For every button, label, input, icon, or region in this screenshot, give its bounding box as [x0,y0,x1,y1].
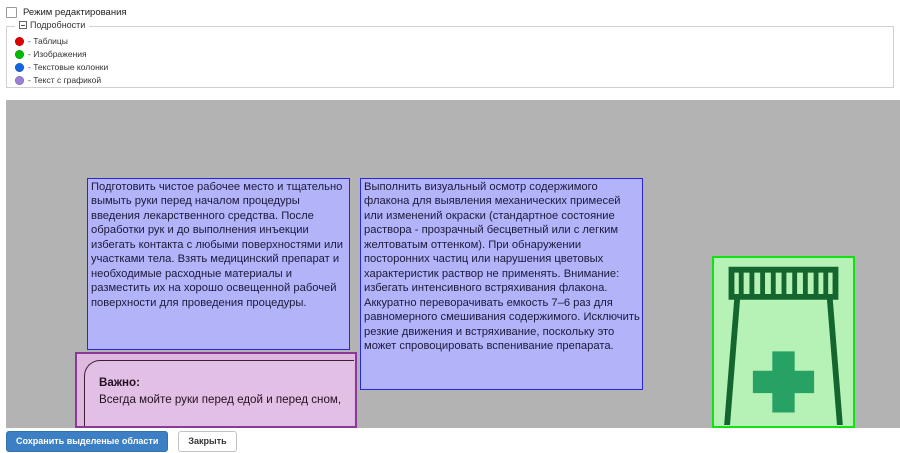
legend-item-images: - Изображения [15,48,108,60]
legend-item-tables: - Таблицы [15,35,108,47]
legend-label-text-columns: - Текстовые колонки [28,62,108,72]
region-text-column-right-content: Выполнить визуальный осмотр содержимого … [361,179,642,353]
legend-dot-red [15,37,24,46]
edit-mode-checkbox[interactable] [6,7,17,18]
details-fieldset-title[interactable]: Подробности [15,20,89,30]
callout-text: Важно: Всегда мойте руки перед едой и пе… [99,374,349,408]
edit-mode-label: Режим редактирования [23,7,127,18]
callout-paragraph: Всегда мойте руки перед едой и перед сно… [99,393,341,406]
legend-label-tables: - Таблицы [28,36,68,46]
document-canvas[interactable]: Подготовить чистое рабочее место и тщате… [6,100,900,428]
details-title-label: Подробности [30,20,85,30]
edit-mode-row[interactable]: Режим редактирования [6,4,127,20]
legend-label-text-graphics: - Текст с графикой [28,75,101,85]
save-selected-regions-button[interactable]: Сохранить выделеные области [6,431,168,452]
legend-dot-blue [15,63,24,72]
collapse-icon[interactable] [19,21,27,29]
legend-dot-green [15,50,24,59]
legend-item-text-columns: - Текстовые колонки [15,61,108,73]
region-text-column-right[interactable]: Выполнить визуальный осмотр содержимого … [360,178,643,390]
close-button[interactable]: Закрыть [178,431,236,452]
details-fieldset: Подробности - Таблицы - Изображения - Те… [6,26,894,88]
legend-list: - Таблицы - Изображения - Текстовые коло… [15,35,108,86]
region-text-column-left-content: Подготовить чистое рабочее место и тщате… [88,179,349,310]
region-selection-app: Режим редактирования Подробности - Табли… [0,0,900,453]
callout-title: Важно: [99,374,349,391]
legend-item-text-graphics: - Текст с графикой [15,74,108,86]
legend-label-images: - Изображения [28,49,87,59]
ointment-tube-icon [714,258,853,425]
region-image-tube[interactable] [712,256,855,428]
region-text-with-graphics[interactable]: Важно: Всегда мойте руки перед едой и пе… [75,352,357,428]
legend-dot-purple [15,76,24,85]
region-text-column-left[interactable]: Подготовить чистое рабочее место и тщате… [87,178,350,350]
footer-button-row: Сохранить выделеные области Закрыть [6,431,237,452]
